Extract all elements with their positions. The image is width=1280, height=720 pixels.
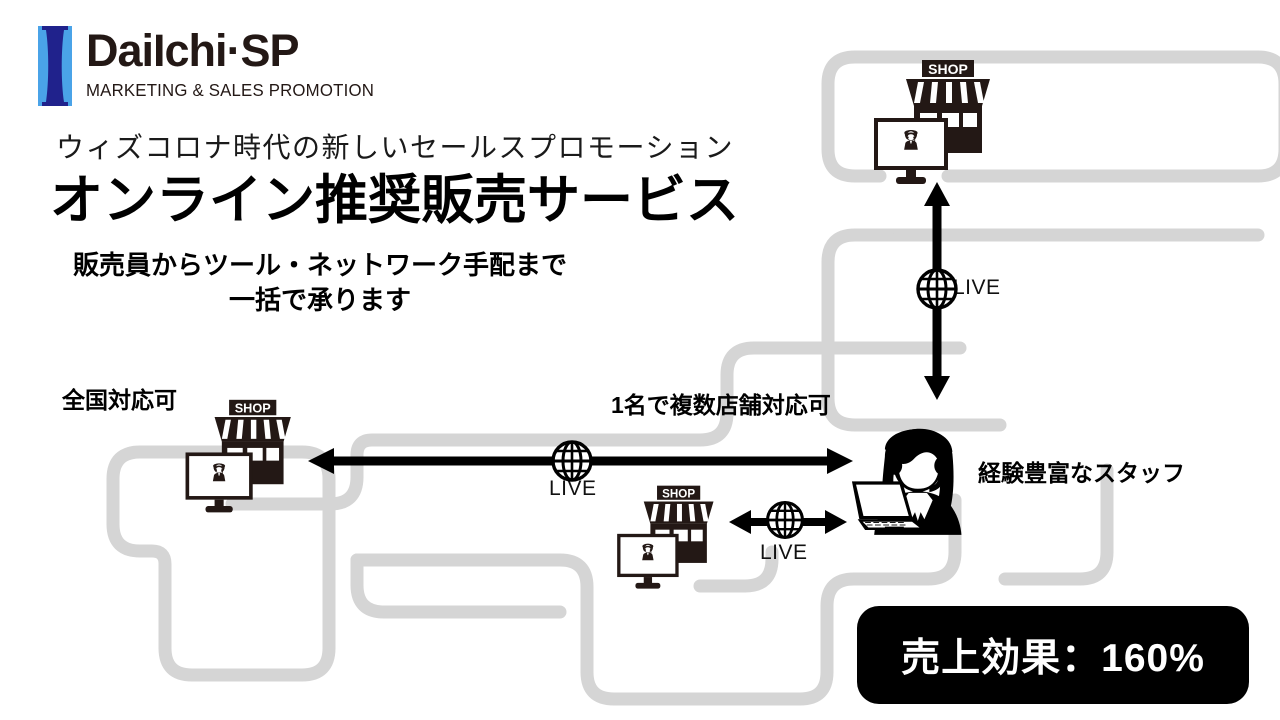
globe-icon: [763, 498, 807, 542]
svg-text:SHOP: SHOP: [928, 61, 968, 77]
subtitle-line-1: 販売員からツール・ネットワーク手配まで: [0, 248, 640, 283]
globe-icon: [548, 437, 596, 485]
operator-node: [847, 398, 987, 540]
status-badge: 売上効果：160%: [857, 606, 1249, 704]
kicker-text: ウィズコロナ時代の新しいセールスプロモーション: [0, 130, 760, 165]
shop-node-center: SHOP: [612, 484, 722, 592]
label-multistore: 1名で複数店舗対応可: [611, 386, 831, 420]
vertical-bar-logo-mark: [38, 26, 72, 106]
subtitle-line-2: 一括で承ります: [0, 283, 640, 318]
label-nationwide: 全国対応可: [62, 381, 177, 415]
shop-node-left: SHOP: [180, 398, 300, 516]
subtitle-block: 販売員からツール・ネットワーク手配まで 一括で承ります: [0, 248, 640, 318]
logo-wordmark: DaiIchi·SP: [86, 28, 386, 73]
shop-node-top-right: SHOP: [868, 58, 1000, 188]
headings-block: ウィズコロナ時代の新しいセールスプロモーション オンライン推奨販売サービス 販売…: [0, 130, 760, 318]
brand-logo: DaiIchi·SP MARKETING & SALES PROMOTION: [38, 26, 386, 106]
slide-canvas: DaiIchi·SP MARKETING & SALES PROMOTION ウ…: [0, 0, 1280, 720]
page-title: オンライン推奨販売サービス: [0, 171, 760, 232]
svg-text:SHOP: SHOP: [235, 402, 271, 416]
logo-tagline: MARKETING & SALES PROMOTION: [86, 80, 374, 101]
label-experienced-staff: 経験豊富なスタッフ: [978, 454, 1185, 488]
globe-icon: [913, 265, 961, 313]
badge-text: 売上効果：160%: [901, 627, 1205, 683]
live-label-short: LIVE: [760, 541, 808, 565]
svg-text:SHOP: SHOP: [662, 487, 695, 500]
